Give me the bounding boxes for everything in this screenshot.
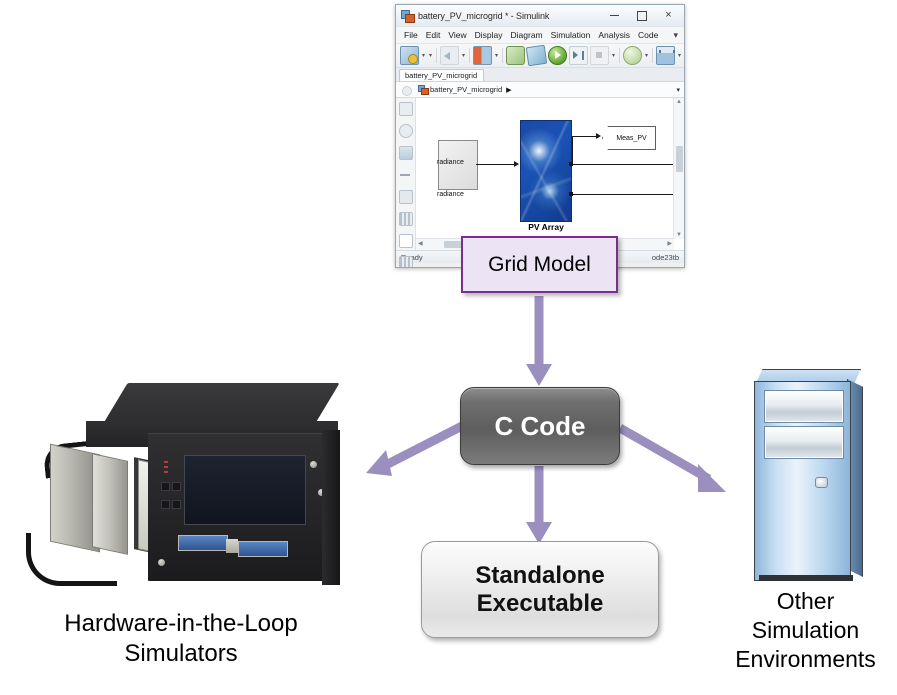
scroll-down-icon[interactable]: ▼ <box>676 232 682 238</box>
signal-arrowhead-icon <box>596 133 601 139</box>
hil-screw <box>158 559 165 566</box>
arrow-c-code-to-other-simulation <box>614 424 736 500</box>
breadcrumb-caret-icon[interactable]: ▾ <box>676 86 680 94</box>
scroll-up-icon[interactable]: ▲ <box>676 99 682 105</box>
hil-status-leds <box>164 461 176 471</box>
new-model-caret-icon[interactable]: ▾ <box>420 47 427 64</box>
meas-pv-label: Meas_PV <box>611 135 646 142</box>
simulink-title-bar[interactable]: battery_PV_microgrid * - Simulink × <box>396 5 684 27</box>
menu-code[interactable]: Code <box>634 30 662 40</box>
canvas-vertical-scrollbar[interactable]: ▲ ▼ <box>673 98 684 239</box>
hil-connector-2 <box>238 541 288 557</box>
toolbar-divider <box>619 48 620 63</box>
arrow-c-code-to-hil <box>352 420 470 480</box>
tower-drive-bay-1 <box>765 391 843 422</box>
menu-simulation[interactable]: Simulation <box>547 30 595 40</box>
grid-model-node[interactable]: Grid Model <box>461 236 618 293</box>
grid-model-label: Grid Model <box>488 253 591 277</box>
menu-display[interactable]: Display <box>471 30 507 40</box>
build-model-icon[interactable] <box>526 45 547 66</box>
hil-caption: Hardware-in-the-Loop Simulators <box>6 609 356 669</box>
irradiance-port-label-1: radiance <box>437 159 464 166</box>
library-icon[interactable] <box>399 256 413 268</box>
breadcrumb[interactable]: battery_PV_microgrid ▶ ▾ <box>396 82 684 98</box>
signal-line <box>476 164 514 165</box>
scope-caret-icon[interactable]: ▾ <box>676 47 683 64</box>
irradiance-port-label-2: radiance <box>437 191 464 198</box>
other-caption-line-1: Other <box>714 587 897 616</box>
menu-edit[interactable]: Edit <box>422 30 445 40</box>
other-caption-line-2: Simulation <box>714 616 897 645</box>
subsystem-icon[interactable] <box>399 212 413 226</box>
menu-analysis[interactable]: Analysis <box>594 30 634 40</box>
model-tab[interactable]: battery_PV_microgrid <box>399 69 484 81</box>
open-caret-icon[interactable]: ▾ <box>427 47 434 64</box>
zoom-icon[interactable] <box>399 124 413 138</box>
hil-caption-line-1: Hardware-in-the-Loop <box>6 609 356 639</box>
model-canvas[interactable]: radiance radiance PV Array Meas_PV <box>416 98 674 239</box>
hil-caption-line-2: Simulators <box>6 639 356 669</box>
hil-screw <box>310 461 317 468</box>
breadcrumb-separator-icon: ▶ <box>506 86 511 94</box>
menu-bar[interactable]: File Edit View Display Diagram Simulatio… <box>396 27 684 44</box>
annotation-icon[interactable] <box>399 190 413 204</box>
toolbar-divider <box>469 48 470 63</box>
hil-display-panel <box>184 455 306 525</box>
meas-pv-goto-block[interactable]: Meas_PV <box>602 126 656 150</box>
library-caret-icon[interactable]: ▾ <box>493 47 500 64</box>
minimize-button[interactable] <box>601 6 628 26</box>
signal-arrowhead-icon <box>514 161 519 167</box>
signal-line <box>572 136 596 137</box>
new-model-icon[interactable] <box>400 46 419 65</box>
c-code-node[interactable]: C Code <box>460 387 620 465</box>
arrow-grid-model-to-c-code <box>524 296 554 388</box>
hil-cable-lower <box>26 533 117 586</box>
scroll-left-icon[interactable]: ◀ <box>418 240 423 247</box>
simulink-window[interactable]: battery_PV_microgrid * - Simulink × File… <box>395 4 685 268</box>
hil-connector-latch <box>226 539 238 553</box>
signal-line <box>573 194 674 195</box>
blank-block-icon[interactable] <box>399 234 413 248</box>
scope-icon[interactable] <box>656 46 675 65</box>
scroll-right-icon[interactable]: ▶ <box>667 240 672 247</box>
back-arrow-icon[interactable] <box>440 46 459 65</box>
standalone-line-2: Executable <box>477 590 604 618</box>
other-caption-line-3: Environments <box>714 645 897 674</box>
window-title: battery_PV_microgrid * - Simulink <box>418 11 601 21</box>
model-icon <box>418 85 427 94</box>
tower-base <box>759 575 853 581</box>
menu-file[interactable]: File <box>400 30 422 40</box>
hil-connector-1 <box>178 535 228 551</box>
signal-line <box>573 164 674 165</box>
vscroll-thumb[interactable] <box>676 146 683 172</box>
canvas-area[interactable]: radiance radiance PV Array Meas_PV ▲ <box>396 98 684 250</box>
pv-array-block[interactable] <box>520 120 572 222</box>
window-controls: × <box>601 6 682 26</box>
standalone-line-1: Standalone <box>475 562 604 590</box>
signal-line <box>572 136 573 164</box>
toolbar-divider <box>436 48 437 63</box>
update-model-icon[interactable] <box>623 46 642 65</box>
hil-front-buttons <box>160 479 182 513</box>
hil-chassis-right-edge <box>322 430 340 585</box>
breadcrumb-label[interactable]: battery_PV_microgrid <box>430 85 502 94</box>
stop-icon[interactable] <box>590 46 609 65</box>
canvas-tool-palette[interactable] <box>396 98 416 250</box>
maximize-button[interactable] <box>628 6 655 26</box>
update-caret-icon[interactable]: ▾ <box>643 47 650 64</box>
standalone-executable-node[interactable]: Standalone Executable <box>421 541 659 638</box>
model-tab-strip[interactable]: battery_PV_microgrid <box>396 68 684 82</box>
power-button-icon[interactable] <box>815 477 828 488</box>
run-icon[interactable] <box>548 46 567 65</box>
tower-drive-bay-2 <box>765 427 843 458</box>
other-simulation-caption: Other Simulation Environments <box>714 587 897 673</box>
menu-diagram[interactable]: Diagram <box>507 30 547 40</box>
explorer-toggle-icon[interactable] <box>402 86 412 96</box>
solver-name: ode23tb <box>652 253 679 262</box>
computer-tower-illustration <box>751 369 867 583</box>
toolbar[interactable]: ▾ ▾ ▾ ▾ ▾ ▾ ▾ <box>396 44 684 68</box>
menu-overflow-icon[interactable]: ▾ <box>670 30 681 41</box>
arrow-c-code-to-standalone <box>524 466 554 546</box>
hil-simulator-photo <box>26 383 344 597</box>
fit-to-view-icon[interactable] <box>399 146 413 160</box>
toolbar-divider <box>502 48 503 63</box>
stop-caret-icon[interactable]: ▾ <box>610 47 617 64</box>
model-settings-icon[interactable] <box>506 46 525 65</box>
pan-icon[interactable] <box>399 102 413 116</box>
signal-arrow-icon[interactable] <box>399 168 413 182</box>
pv-array-label: PV Array <box>508 222 584 232</box>
c-code-label: C Code <box>495 411 586 442</box>
toolbar-divider <box>652 48 653 63</box>
simulink-model-icon <box>401 9 414 22</box>
forward-caret-icon[interactable]: ▾ <box>460 47 467 64</box>
menu-view[interactable]: View <box>444 30 470 40</box>
close-button[interactable]: × <box>655 6 682 26</box>
library-browser-icon[interactable] <box>473 46 492 65</box>
step-forward-icon[interactable] <box>569 46 588 65</box>
